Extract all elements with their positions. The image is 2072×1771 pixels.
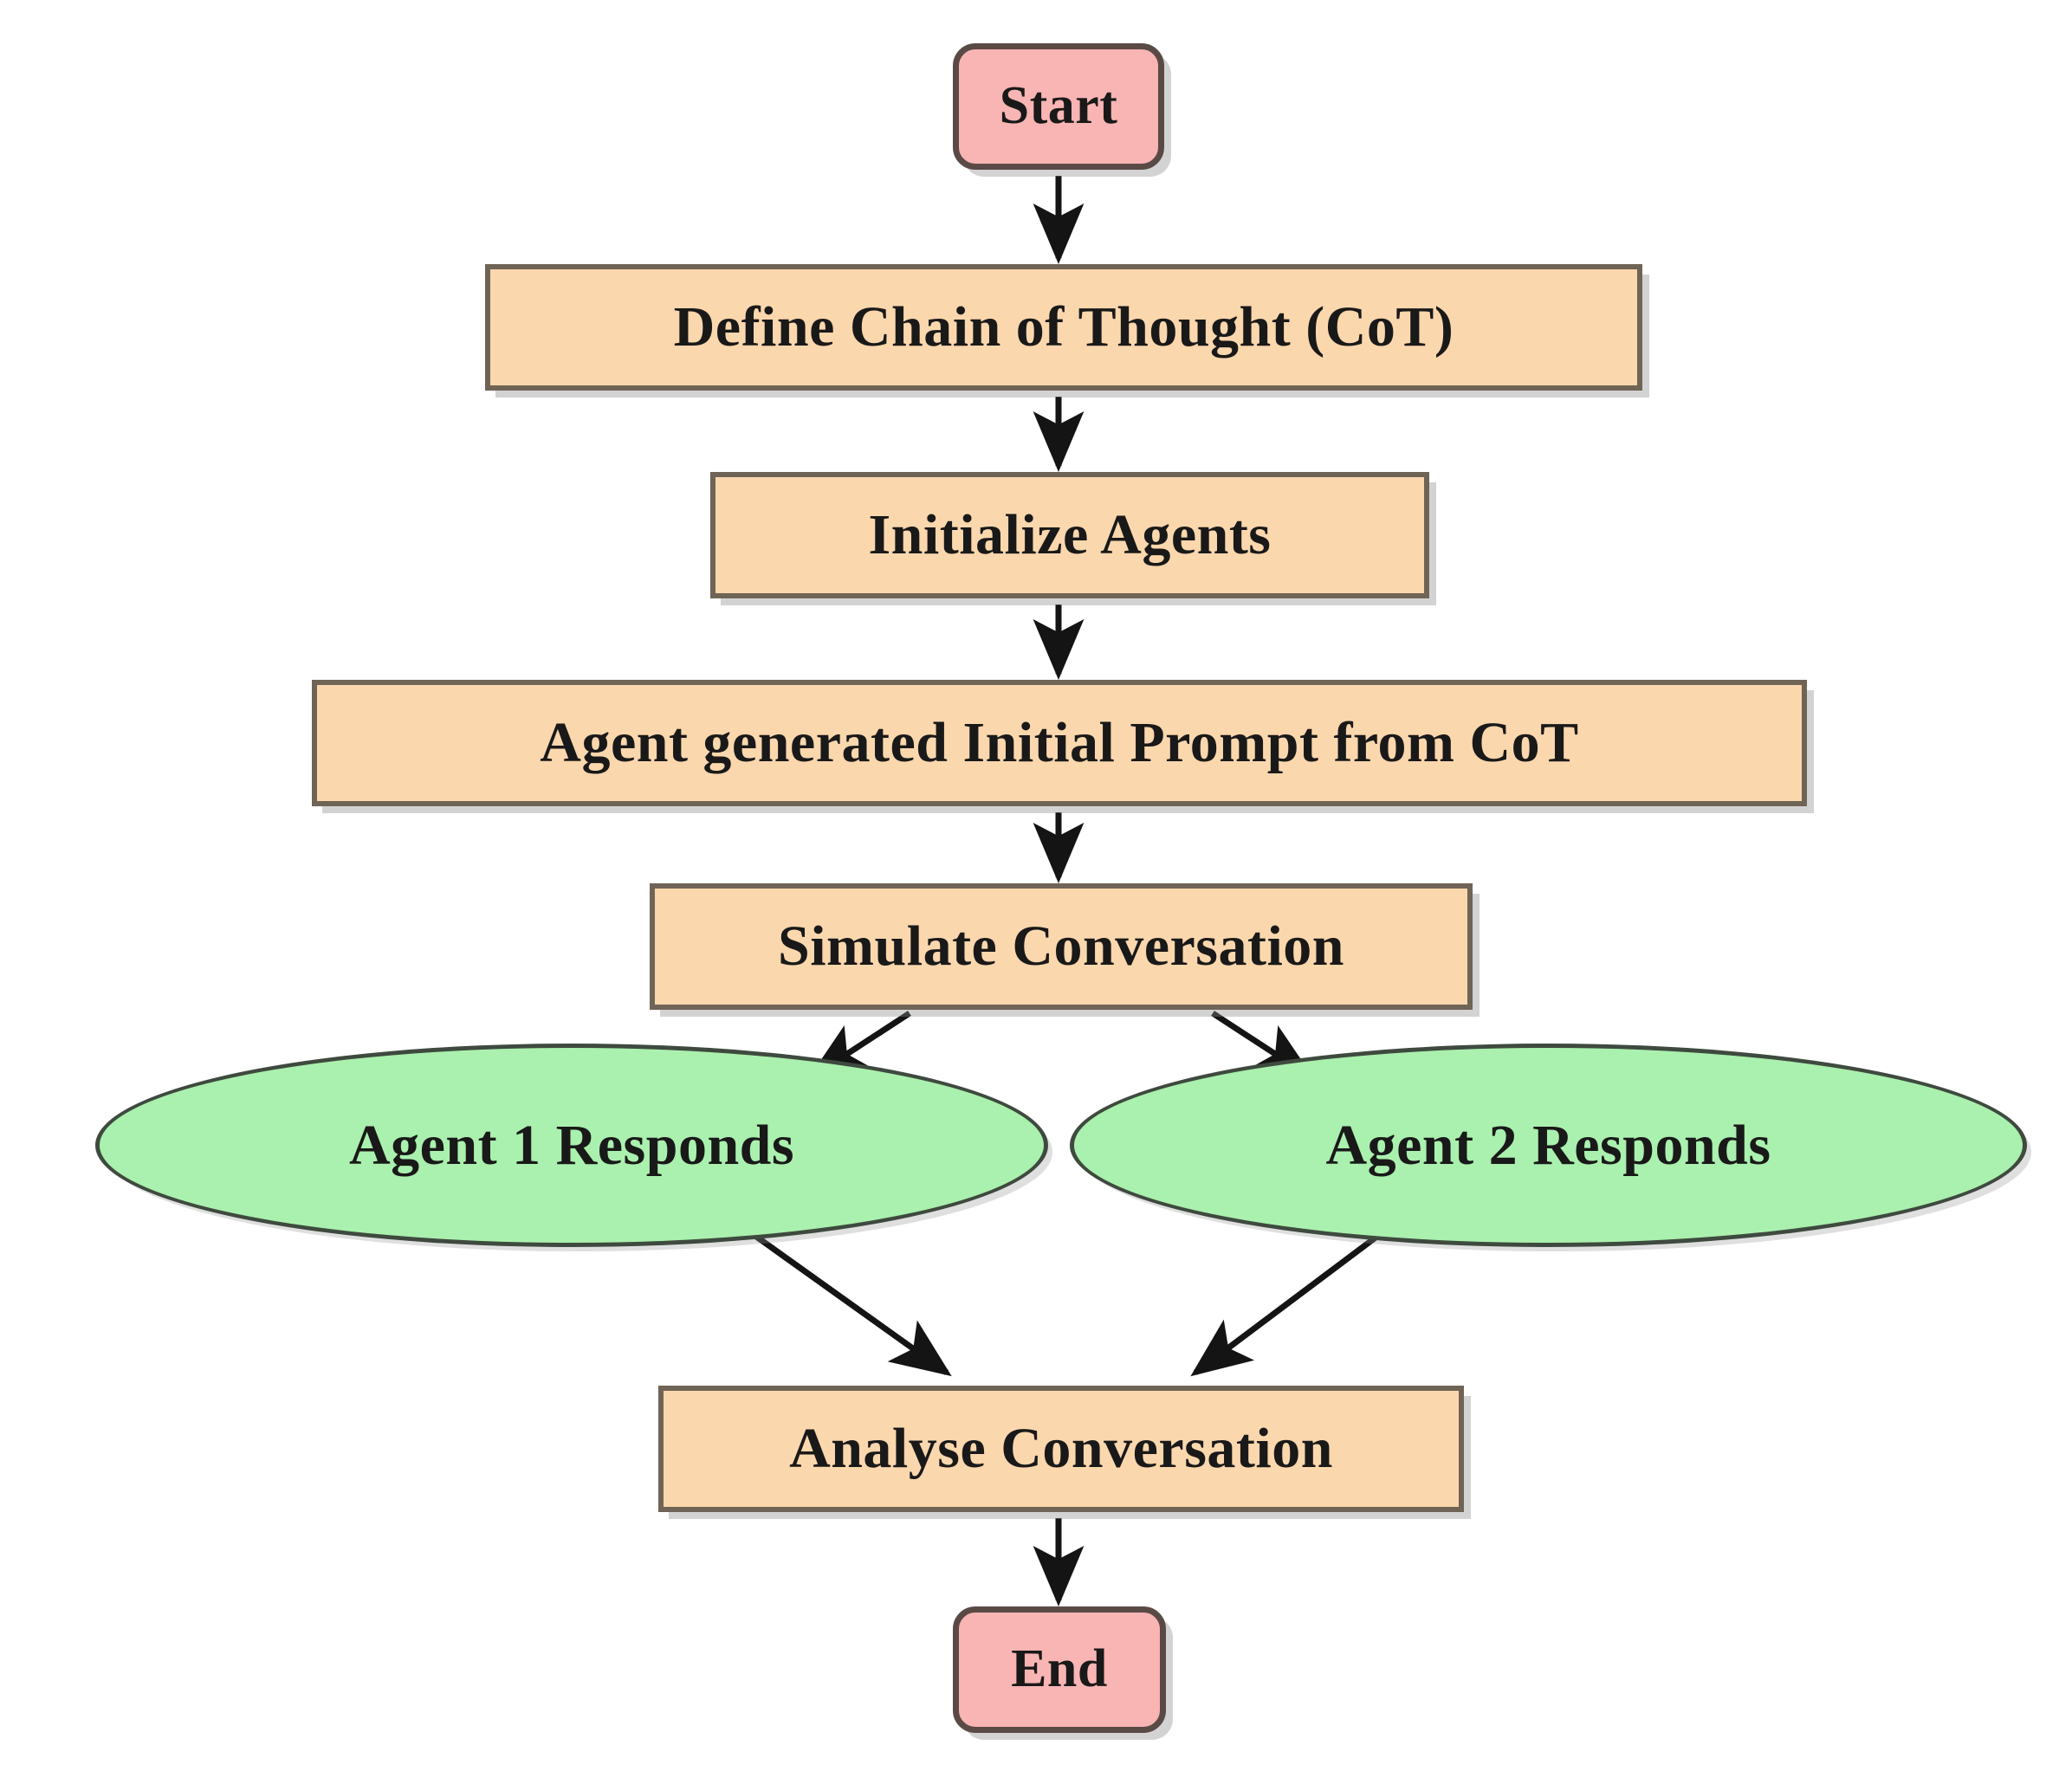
edge-agent1-to-analyse: [747, 1230, 947, 1373]
node-simulate-conversation[interactable]: Simulate Conversation: [650, 883, 1473, 1010]
flowchart-canvas: Start Define Chain of Thought (CoT) Init…: [0, 0, 2072, 1771]
node-agent-2-responds[interactable]: Agent 2 Responds: [1070, 1044, 2027, 1247]
node-analyse-conversation[interactable]: Analyse Conversation: [658, 1386, 1464, 1512]
node-agent-generated-initial-prompt[interactable]: Agent generated Initial Prompt from CoT: [312, 680, 1807, 806]
node-end[interactable]: End: [953, 1606, 1166, 1733]
node-simulate-conversation-label: Simulate Conversation: [778, 916, 1344, 976]
node-define-chain-of-thought-label: Define Chain of Thought (CoT): [674, 297, 1454, 357]
node-agent-generated-initial-prompt-label: Agent generated Initial Prompt from CoT: [540, 713, 1578, 772]
node-initialize-agents-label: Initialize Agents: [869, 505, 1272, 565]
edge-agent2-to-analyse: [1195, 1230, 1386, 1373]
node-define-chain-of-thought[interactable]: Define Chain of Thought (CoT): [485, 264, 1642, 391]
node-agent-1-responds-label: Agent 1 Responds: [349, 1115, 794, 1175]
node-start-label: Start: [1000, 78, 1118, 134]
node-end-label: End: [1011, 1641, 1108, 1697]
node-initialize-agents[interactable]: Initialize Agents: [710, 472, 1429, 598]
node-agent-2-responds-label: Agent 2 Responds: [1325, 1115, 1771, 1175]
node-agent-1-responds[interactable]: Agent 1 Responds: [95, 1044, 1048, 1247]
node-analyse-conversation-label: Analyse Conversation: [789, 1419, 1333, 1478]
node-start[interactable]: Start: [953, 43, 1164, 170]
